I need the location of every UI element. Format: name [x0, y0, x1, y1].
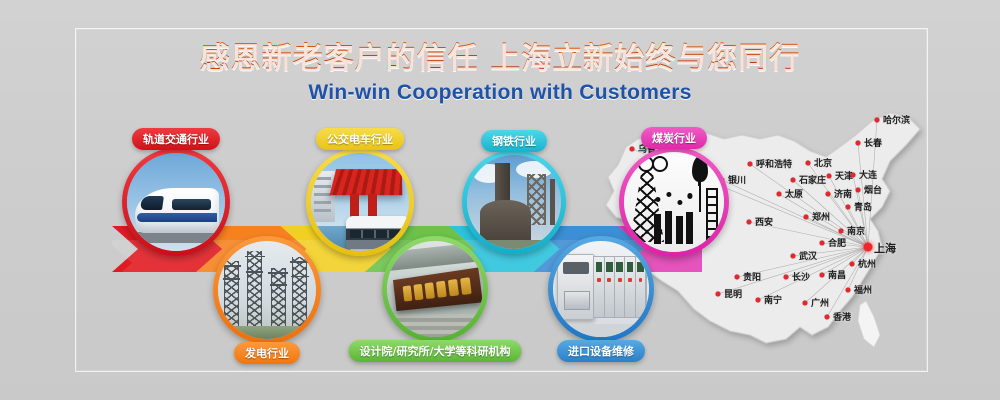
city-label: 广州	[811, 296, 829, 309]
city-dot	[856, 188, 861, 193]
industry-label-rail: 轨道交通行业	[132, 128, 220, 150]
industry-label-bus: 公交电车行业	[316, 128, 404, 150]
university-icon	[387, 241, 483, 337]
city-dot	[756, 298, 761, 303]
city-label: 大连	[859, 168, 877, 181]
city-dot	[826, 192, 831, 197]
city-label: 福州	[854, 283, 872, 296]
equipment-bubble[interactable]	[548, 236, 654, 342]
city-label: 青岛	[854, 200, 872, 213]
city-label: 杭州	[858, 257, 876, 270]
city-dot	[747, 220, 752, 225]
city-dot	[827, 174, 832, 179]
industry-label-research: 设计院/研究所/大学等科研机构	[348, 340, 521, 362]
city-label: 北京	[814, 156, 832, 169]
headline-block: 感恩新老客户的信任 上海立新始终与您同行 Win-win Cooperation…	[0, 42, 1000, 105]
city-label: 济南	[834, 187, 852, 200]
city-dot	[748, 162, 753, 167]
city-dot	[820, 241, 825, 246]
city-label: 哈尔滨	[883, 113, 910, 126]
city-label: 香港	[833, 310, 851, 323]
power-grid-icon	[218, 241, 316, 339]
industry-node-power[interactable]: 发电行业	[213, 236, 321, 344]
city-label: 上海	[874, 240, 896, 256]
city-label: 烟台	[864, 183, 882, 196]
city-label: 石家庄	[799, 173, 826, 186]
city-dot	[803, 301, 808, 306]
city-label: 长沙	[792, 270, 810, 283]
city-dot	[846, 288, 851, 293]
page-subtitle: Win-win Cooperation with Customers	[0, 81, 1000, 105]
train-icon	[127, 153, 225, 251]
city-dot	[804, 215, 809, 220]
industry-node-research[interactable]: 设计院/研究所/大学等科研机构	[382, 236, 488, 342]
industry-label-equipment: 进口设备维修	[557, 340, 645, 362]
city-dot	[777, 192, 782, 197]
city-dot	[716, 292, 721, 297]
page-title: 感恩新老客户的信任 上海立新始终与您同行	[0, 42, 1000, 75]
city-dot	[735, 275, 740, 280]
industry-label-power: 发电行业	[234, 342, 300, 364]
city-label: 武汉	[799, 249, 817, 262]
city-label: 太原	[785, 187, 803, 200]
industry-label-steel: 钢铁行业	[481, 130, 547, 152]
city-label: 呼和浩特	[756, 157, 792, 170]
city-label: 昆明	[724, 287, 742, 300]
power-bubble[interactable]	[213, 236, 321, 344]
city-label: 贵阳	[743, 270, 761, 283]
city-label: 南宁	[764, 293, 782, 306]
city-dot	[791, 178, 796, 183]
city-label: 郑州	[812, 210, 830, 223]
city-dot	[825, 315, 830, 320]
city-label: 银川	[728, 173, 746, 186]
city-dot	[864, 243, 873, 252]
industry-node-equipment[interactable]: 进口设备维修	[548, 236, 654, 342]
city-dot	[851, 173, 856, 178]
city-dot	[820, 273, 825, 278]
switchgear-icon	[553, 241, 649, 337]
city-label: 长春	[864, 136, 882, 149]
city-dot	[875, 118, 880, 123]
city-dot	[791, 254, 796, 259]
city-label: 南京	[847, 224, 865, 237]
city-label: 南昌	[828, 268, 846, 281]
city-label: 西安	[755, 215, 773, 228]
city-label: 合肥	[828, 236, 846, 249]
city-dot	[856, 141, 861, 146]
industry-label-coal: 煤炭行业	[641, 127, 707, 149]
research-bubble[interactable]	[382, 236, 488, 342]
city-dot	[806, 161, 811, 166]
city-dot	[784, 275, 789, 280]
city-dot	[846, 205, 851, 210]
city-dot	[850, 262, 855, 267]
steel-mill-icon	[467, 155, 561, 249]
city-dot	[839, 229, 844, 234]
